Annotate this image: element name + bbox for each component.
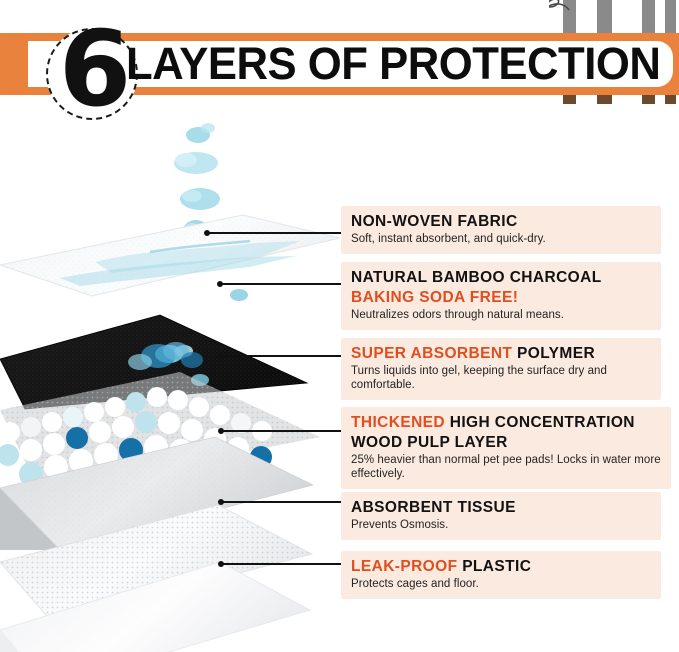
label-title: LEAK-PROOF PLASTIC xyxy=(351,557,651,576)
label-description: Turns liquids into gel, keeping the surf… xyxy=(351,364,651,392)
label-title-plain: HIGH CONCENTRATION xyxy=(450,414,635,431)
leader-line-4 xyxy=(221,430,341,432)
label-title: NATURAL BAMBOO CHARCOAL xyxy=(351,268,651,287)
label-block-leak-proof-plastic: LEAK-PROOF PLASTIC Protects cages and fl… xyxy=(341,551,661,599)
layer-stack-illustration xyxy=(0,110,340,652)
leader-line-6 xyxy=(221,563,341,565)
badge-number-six: 6 xyxy=(46,28,138,120)
label-title-accent: LEAK-PROOF xyxy=(351,558,457,575)
leader-line-2 xyxy=(220,283,341,285)
label-description: Neutralizes odors through natural means. xyxy=(351,308,651,322)
label-block-bamboo-charcoal: NATURAL BAMBOO CHARCOAL BAKING SODA FREE… xyxy=(341,262,661,330)
label-description: 25% heavier than normal pet pee pads! Lo… xyxy=(351,453,661,481)
leader-line-1 xyxy=(207,232,341,234)
leader-dot xyxy=(218,561,224,567)
label-title-plain: NATURAL BAMBOO CHARCOAL xyxy=(351,269,602,286)
label-description: Protects cages and floor. xyxy=(351,577,651,591)
label-block-absorbent-tissue: ABSORBENT TISSUE Prevents Osmosis. xyxy=(341,492,661,540)
label-title-second-line: BAKING SODA FREE! xyxy=(351,288,651,307)
infographic-root: 6 LAYERS OF PROTECTION xyxy=(0,0,679,652)
layer-labels-list: NON-WOVEN FABRIC Soft, instant absorbent… xyxy=(341,110,679,652)
leader-line-5 xyxy=(221,501,341,503)
label-title-plain: POLYMER xyxy=(517,345,595,362)
label-block-non-woven-fabric: NON-WOVEN FABRIC Soft, instant absorbent… xyxy=(341,206,661,254)
label-title: SUPER ABSORBENT POLYMER xyxy=(351,344,651,363)
label-block-super-absorbent-polymer: SUPER ABSORBENT POLYMER Turns liquids in… xyxy=(341,338,661,400)
label-block-wood-pulp: THICKENED HIGH CONCENTRATION WOOD PULP L… xyxy=(341,407,671,489)
leader-line-3 xyxy=(222,355,341,357)
label-title-accent: THICKENED xyxy=(351,414,445,431)
label-title-plain: PLASTIC xyxy=(462,558,531,575)
header-banner: 6 LAYERS OF PROTECTION xyxy=(0,0,679,110)
label-title: NON-WOVEN FABRIC xyxy=(351,212,651,231)
label-title: ABSORBENT TISSUE xyxy=(351,498,651,517)
label-title-accent: SUPER ABSORBENT xyxy=(351,345,512,362)
label-title-plain: ABSORBENT TISSUE xyxy=(351,499,516,516)
leader-dot xyxy=(217,281,223,287)
leader-dot xyxy=(204,230,210,236)
label-title-second-line: WOOD PULP LAYER xyxy=(351,433,661,452)
leader-dot xyxy=(218,428,224,434)
label-title-plain: NON-WOVEN FABRIC xyxy=(351,213,518,230)
leader-dot xyxy=(218,499,224,505)
label-description: Soft, instant absorbent, and quick-dry. xyxy=(351,232,651,246)
page-title: LAYERS OF PROTECTION xyxy=(126,40,660,88)
leader-dot xyxy=(219,353,225,359)
label-description: Prevents Osmosis. xyxy=(351,518,651,532)
label-title: THICKENED HIGH CONCENTRATION xyxy=(351,413,661,432)
